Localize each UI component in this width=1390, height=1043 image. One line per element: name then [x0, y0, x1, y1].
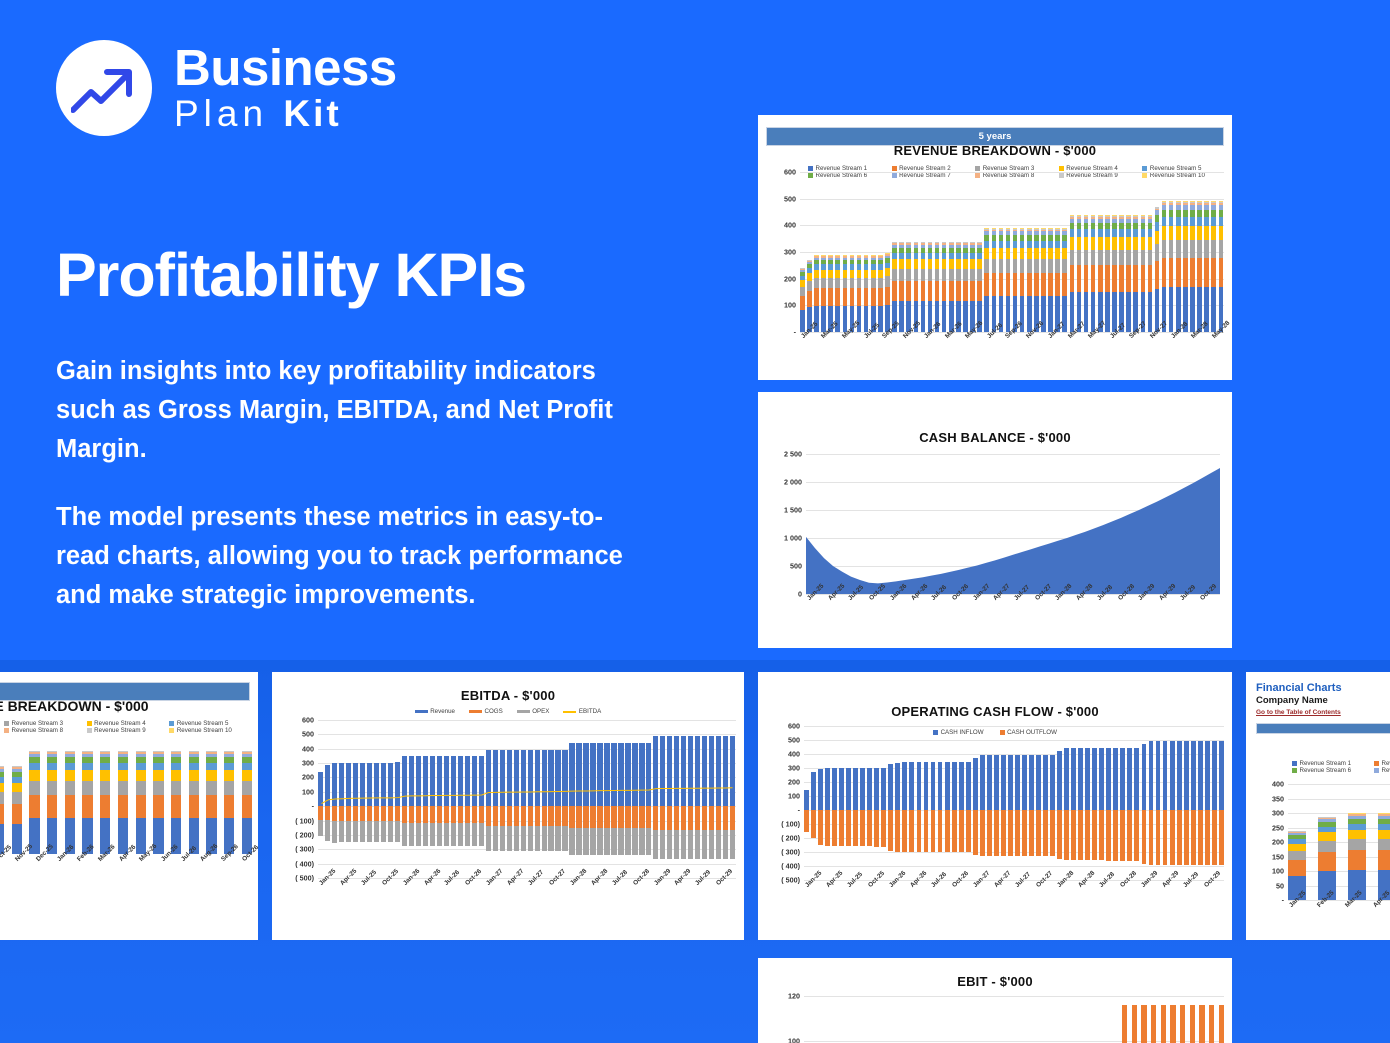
- bar-segment: [1177, 741, 1182, 810]
- x-tick-slot: Dec-25: [35, 858, 56, 888]
- y-axis-tick: 500: [790, 562, 802, 571]
- bar: [153, 751, 163, 854]
- x-tick-slot: Oct-28: [1117, 597, 1138, 627]
- y-axis-tick: 1 500: [784, 506, 802, 515]
- bar-segment: [1106, 748, 1111, 810]
- legend-label: Revenue Stream 9: [94, 727, 146, 734]
- bar-segment: [1141, 265, 1146, 291]
- bar: [825, 726, 830, 880]
- bar-segment: [984, 296, 989, 332]
- financial-charts-banner: [1256, 723, 1390, 734]
- x-tick-slot: Nov-26: [1025, 335, 1046, 365]
- bar-segment: [1126, 265, 1131, 291]
- x-tick-slot: Jul-29: [694, 882, 715, 912]
- bar-segment: [136, 795, 146, 818]
- bar: [242, 751, 252, 854]
- bar-segment: [1041, 273, 1046, 296]
- bar: [1077, 215, 1082, 332]
- bar-segment: [1162, 217, 1167, 226]
- hero-paragraph-2: The model presents these metrics in easy…: [56, 498, 656, 614]
- bar-segment: [1190, 217, 1195, 226]
- bar: [833, 996, 838, 1043]
- chart-title-revenue-breakdown-24m: REVENUE BREAKDOWN - $'000: [0, 698, 149, 714]
- bar-segment: [1133, 229, 1138, 237]
- bar-segment: [1183, 240, 1188, 258]
- gridline: [806, 594, 1220, 595]
- x-tick-slot: Jan-28: [1054, 597, 1075, 627]
- bar-segment: [973, 810, 978, 855]
- y-axis-tick: ( 200): [781, 834, 800, 843]
- bar-segment: [999, 241, 1004, 248]
- bar-segment: [949, 269, 954, 281]
- x-tick-slot: Oct-26: [241, 858, 258, 888]
- x-tick-slot: Jan-26: [923, 335, 943, 365]
- x-tick-slot: Jul-27: [1013, 597, 1034, 627]
- bar-segment: [1013, 248, 1018, 259]
- bar-segment: [1112, 265, 1117, 291]
- bar-segment: [65, 781, 75, 795]
- bar-segment: [949, 259, 954, 268]
- bar: [1126, 215, 1131, 332]
- bar-segment: [1084, 265, 1089, 291]
- bar-segment: [1183, 210, 1188, 217]
- bar-segment: [1205, 810, 1210, 865]
- x-tick-slot: Jan-28: [1170, 335, 1190, 365]
- y-axis-tick: ( 400): [781, 862, 800, 871]
- bar-segment: [1050, 810, 1055, 856]
- bar-segment: [1020, 241, 1025, 248]
- bar-segment: [1062, 259, 1067, 273]
- bar-segment: [821, 278, 826, 288]
- bar-segment: [1022, 810, 1027, 856]
- bar-segment: [224, 795, 234, 818]
- bar-segment: [1112, 292, 1117, 332]
- bar-segment: [1219, 741, 1224, 810]
- bar-segment: [977, 281, 982, 301]
- card-revenue-breakdown-5y[interactable]: 5 years REVENUE BREAKDOWN - $'000 Revenu…: [758, 115, 1232, 380]
- bar-segment: [1048, 273, 1053, 296]
- bar-segment: [1020, 248, 1025, 259]
- x-tick-slot: Oct-28: [632, 882, 653, 912]
- plot-ebitda: 600500400300200100-( 100)( 200)( 300)( 4…: [318, 720, 736, 878]
- bar-segment: [874, 810, 879, 847]
- bar: [852, 996, 857, 1043]
- y-axis-tick: 100: [788, 792, 800, 801]
- bar: [867, 726, 872, 880]
- bar-segment: [1070, 265, 1075, 291]
- bar: [920, 996, 925, 1043]
- x-tick-slot: Jan-26: [402, 882, 423, 912]
- x-tick-slot: Jul-27: [1014, 884, 1035, 914]
- bar-segment: [1180, 1005, 1185, 1043]
- bar-segment: [1015, 810, 1020, 856]
- bar-segment: [832, 810, 837, 846]
- bar-segment: [1148, 265, 1153, 291]
- brand-plan: Plan: [174, 93, 268, 134]
- bar-segment: [942, 281, 947, 301]
- x-tick-slot: Apr-28: [590, 882, 611, 912]
- bar-segment: [1027, 248, 1032, 259]
- card-ebit[interactable]: EBIT - $'000 12010080: [758, 958, 1232, 1043]
- bar-segment: [846, 768, 851, 810]
- bar-segment: [1155, 222, 1160, 231]
- y-axis-tick: ( 100): [295, 816, 314, 825]
- x-tick-slot: Apr-26: [909, 884, 930, 914]
- bar-segment: [1029, 810, 1034, 856]
- bar: [881, 726, 886, 880]
- bar-segment: [1027, 259, 1032, 273]
- bar-segment: [82, 781, 92, 795]
- x-tick-slot: Oct-26: [951, 884, 972, 914]
- bar: [1113, 726, 1118, 880]
- bar-segment: [835, 288, 840, 305]
- x-tick-slot: Jan-28: [1056, 884, 1077, 914]
- bar-segment: [1142, 810, 1147, 864]
- bar: [1085, 726, 1090, 880]
- bar-segment: [1098, 250, 1103, 266]
- bar-segment: [1057, 751, 1062, 811]
- bar: [1092, 726, 1097, 880]
- bar-segment: [1348, 830, 1366, 839]
- plot-financial-charts: 40035030025020015010050-: [1288, 784, 1390, 900]
- bar-segment: [82, 770, 92, 781]
- bar-segment: [1062, 248, 1067, 259]
- bar: [935, 242, 940, 332]
- line-series: [318, 720, 736, 878]
- bar-segment: [1013, 273, 1018, 296]
- bar-segment: [994, 755, 999, 810]
- bar-segment: [814, 288, 819, 305]
- brand-name-line1: Business: [174, 43, 397, 93]
- legend-item: Revenue Stream 2: [892, 165, 976, 172]
- bar-segment: [966, 762, 971, 810]
- legend-item: Revenue Stream 7: [1374, 767, 1390, 774]
- bar-segment: [895, 763, 900, 810]
- bar-segment: [984, 273, 989, 296]
- x-tick-slot: Apr-27: [992, 597, 1013, 627]
- legend-item: Revenue Stream 8: [4, 727, 87, 734]
- y-axis-tick: ( 400): [295, 859, 314, 868]
- card-financial-charts-panel[interactable]: Financial Charts Company Name Go to the …: [1246, 672, 1390, 940]
- bar-segment: [82, 795, 92, 818]
- bar-segment: [1043, 810, 1048, 856]
- bar-segment: [1211, 240, 1216, 258]
- bar-segment: [12, 804, 22, 824]
- bar-segment: [29, 781, 39, 795]
- bar-segment: [1041, 259, 1046, 273]
- bar-segment: [1318, 841, 1336, 852]
- bar: [1197, 201, 1202, 332]
- bar: [956, 242, 961, 332]
- upward-trend-arrow-icon: [71, 62, 137, 114]
- bar: [811, 726, 816, 880]
- bar: [949, 242, 954, 332]
- bar-segment: [1162, 258, 1167, 287]
- bar-segment: [906, 281, 911, 301]
- x-tick-slot: Oct-25: [868, 597, 889, 627]
- table-of-contents-link[interactable]: Go to the Table of Contents: [1256, 709, 1390, 716]
- bar-series: [804, 726, 1224, 880]
- y-axis-tick: 350: [1272, 794, 1284, 803]
- x-tick-slot: Apr-25: [1372, 904, 1390, 934]
- bar: [1070, 215, 1075, 332]
- bar-segment: [1141, 237, 1146, 249]
- bar: [1199, 996, 1204, 1043]
- bar: [963, 242, 968, 332]
- bar-segment: [1170, 1005, 1175, 1043]
- bar-segment: [878, 288, 883, 305]
- bar: [997, 996, 1002, 1043]
- card-cash-balance[interactable]: CASH BALANCE - $'000 2 5002 0001 5001 00…: [758, 392, 1232, 648]
- bar-segment: [1149, 810, 1154, 865]
- bar-segment: [821, 288, 826, 305]
- legend-swatch: [4, 728, 9, 733]
- card-ebitda[interactable]: EBITDA - $'000 RevenueCOGSOPEXEBITDA 600…: [272, 672, 744, 940]
- bar-segment: [899, 269, 904, 281]
- bar: [984, 228, 989, 332]
- bar-segment: [1071, 810, 1076, 860]
- bar-segment: [1151, 1005, 1156, 1043]
- bar: [1006, 228, 1011, 332]
- legend-swatch: [469, 710, 482, 713]
- x-tick-slot: Jul-26: [986, 335, 1004, 365]
- x-tick-slot: Sep-27: [1128, 335, 1149, 365]
- bar-segment: [1077, 237, 1082, 249]
- bar-segment: [818, 810, 823, 845]
- bar: [1022, 726, 1027, 880]
- bar: [977, 242, 982, 332]
- bar: [1016, 996, 1021, 1043]
- bar: [1132, 996, 1137, 1043]
- bar-segment: [1169, 226, 1174, 240]
- bar-segment: [1036, 755, 1041, 810]
- legend-swatch: [975, 166, 980, 171]
- bar-segment: [892, 259, 897, 268]
- y-axis-tick: 300: [788, 764, 800, 773]
- x-tick-slot: Apr-25: [339, 882, 360, 912]
- legend-swatch: [1374, 761, 1379, 766]
- bar: [862, 996, 867, 1043]
- y-axis-tick: ( 500): [781, 876, 800, 885]
- bar: [1156, 726, 1161, 880]
- bar-segment: [1149, 741, 1154, 810]
- bar: [874, 726, 879, 880]
- legend-swatch: [169, 721, 174, 726]
- bar-segment: [800, 310, 805, 332]
- bar-segment: [952, 810, 957, 852]
- bar-segment: [1048, 241, 1053, 248]
- bar-segment: [928, 269, 933, 281]
- legend-item: Revenue Stream 3: [4, 720, 87, 727]
- x-tick-slot: Mar-26: [97, 858, 118, 888]
- bar-segment: [1091, 237, 1096, 249]
- bar-segment: [935, 281, 940, 301]
- xaxis-ebitda: Jan-25Apr-25Jul-25Oct-25Jan-26Apr-26Jul-…: [318, 882, 736, 912]
- bar-segment: [1070, 237, 1075, 249]
- x-tick-slot: Jan-26: [888, 884, 909, 914]
- bar: [928, 242, 933, 332]
- bar: [902, 726, 907, 880]
- bar: [917, 726, 922, 880]
- legend-label: Revenue Stream 3: [12, 720, 64, 727]
- bar-segment: [171, 781, 181, 795]
- bar: [1055, 228, 1060, 332]
- x-tick-slot: Apr-29: [1161, 884, 1182, 914]
- bar-segment: [984, 241, 989, 248]
- legend-label: OPEX: [532, 708, 549, 715]
- legend-label: Revenue Stream 2: [1382, 760, 1390, 767]
- bar-segment: [1212, 741, 1217, 810]
- bar: [909, 726, 914, 880]
- bar-segment: [1288, 860, 1306, 876]
- legend-label: Revenue Stream 5: [177, 720, 229, 727]
- bar: [118, 751, 128, 854]
- bar-segment: [850, 270, 855, 278]
- logo-mark: [56, 40, 152, 136]
- bar-segment: [1197, 210, 1202, 217]
- x-tick-slot: Apr-26: [118, 858, 138, 888]
- legend-label: Revenue Stream 3: [983, 165, 1035, 172]
- bar-segment: [29, 770, 39, 781]
- bar-segment: [1098, 237, 1103, 249]
- bar-segment: [1348, 839, 1366, 851]
- bar-series: [0, 744, 252, 854]
- bar: [12, 766, 22, 854]
- bar: [189, 751, 199, 854]
- card-revenue-breakdown-24m[interactable]: 24 months REVENUE BREAKDOWN - $'000 Reve…: [0, 672, 258, 940]
- bar-segment: [242, 770, 252, 781]
- bar-segment: [1219, 1005, 1224, 1043]
- bar-segment: [804, 790, 809, 810]
- bar-segment: [1190, 210, 1195, 217]
- bar-segment: [224, 763, 234, 770]
- bar-segment: [970, 269, 975, 281]
- y-axis-tick: 500: [788, 736, 800, 745]
- bar-segment: [814, 270, 819, 278]
- bar: [1027, 228, 1032, 332]
- bar: [885, 253, 890, 332]
- bar: [853, 726, 858, 880]
- bar: [1151, 996, 1156, 1043]
- x-tick-slot: May-26: [964, 335, 986, 365]
- bar-segment: [1057, 810, 1062, 859]
- legend-swatch: [1292, 761, 1297, 766]
- bar: [1170, 726, 1175, 880]
- bar-segment: [909, 810, 914, 852]
- bar-segment: [1191, 810, 1196, 865]
- x-tick-slot: Jan-25: [806, 597, 827, 627]
- x-tick-slot: Jul-26: [930, 884, 951, 914]
- bar-segment: [1106, 810, 1111, 861]
- bar-segment: [1055, 259, 1060, 273]
- bar-segment: [1211, 210, 1216, 217]
- bar: [1041, 228, 1046, 332]
- bar-segment: [1162, 240, 1167, 258]
- plot-revenue-breakdown-24m: [0, 744, 252, 854]
- bar: [1198, 726, 1203, 880]
- bar-segment: [1091, 250, 1096, 266]
- bar-segment: [65, 763, 75, 770]
- bar-segment: [818, 769, 823, 810]
- xaxis-revenue-breakdown-24m: Oct-25Nov-25Dec-25Jan-26Feb-26Mar-26Apr-…: [0, 858, 252, 888]
- legend-item: EBITDA: [563, 708, 601, 715]
- bar-segment: [1212, 810, 1217, 865]
- bar-segment: [1126, 229, 1131, 237]
- y-axis-tick: 250: [1272, 823, 1284, 832]
- bar-segment: [811, 810, 816, 838]
- x-tick-slot: Jul-28: [1098, 884, 1119, 914]
- bar-segment: [906, 269, 911, 281]
- bar-segment: [994, 810, 999, 856]
- y-axis-tick: 200: [302, 773, 314, 782]
- bar: [1034, 228, 1039, 332]
- bar-segment: [1204, 210, 1209, 217]
- bar: [958, 996, 963, 1043]
- legend-item: Revenue Stream 10: [169, 727, 252, 734]
- bar-segment: [839, 810, 844, 846]
- y-axis-tick: -: [798, 806, 800, 815]
- bar: [1029, 726, 1034, 880]
- bar-segment: [1211, 217, 1216, 226]
- x-tick-slot: May-27: [1087, 335, 1109, 365]
- bar-segment: [1199, 1005, 1204, 1043]
- bar-segment: [1119, 229, 1124, 237]
- bar-segment: [909, 762, 914, 810]
- x-tick-slot: Nov-27: [1149, 335, 1170, 365]
- chart-title-ebit: EBIT - $'000: [758, 974, 1232, 989]
- bar-segment: [970, 281, 975, 301]
- bar-segment: [1034, 259, 1039, 273]
- bar-segment: [1132, 1005, 1137, 1043]
- x-tick-slot: Jan-29: [1137, 597, 1158, 627]
- bar-segment: [1163, 741, 1168, 810]
- y-axis-tick: 50: [1276, 881, 1284, 890]
- y-axis-tick: 2 500: [784, 450, 802, 459]
- card-operating-cash-flow[interactable]: OPERATING CASH FLOW - $'000 CASH INFLOWC…: [758, 672, 1232, 940]
- x-tick-slot: Apr-26: [423, 882, 444, 912]
- bar: [888, 726, 893, 880]
- bar-segment: [888, 764, 893, 810]
- financial-charts-title: Financial Charts: [1256, 682, 1390, 694]
- bar-segment: [0, 783, 4, 792]
- bar-segment: [1048, 296, 1053, 332]
- legend-swatch: [4, 721, 9, 726]
- bar-segment: [29, 795, 39, 818]
- bar-segment: [47, 763, 57, 770]
- bar-segment: [828, 278, 833, 288]
- bar-segment: [171, 770, 181, 781]
- bar-segment: [1013, 259, 1018, 273]
- bar-segment: [902, 810, 907, 852]
- bar-segment: [189, 795, 199, 818]
- legend-label: Revenue Stream 10: [177, 727, 232, 734]
- page-title: Profitability KPIs: [56, 243, 696, 307]
- bar: [821, 255, 826, 332]
- bar-segment: [807, 291, 812, 307]
- bar-segment: [1064, 748, 1069, 810]
- bar: [846, 726, 851, 880]
- x-tick-slot: Oct-25: [867, 884, 888, 914]
- bar: [871, 255, 876, 332]
- bar-segment: [1041, 241, 1046, 248]
- bar: [921, 242, 926, 332]
- bar-segment: [1120, 810, 1125, 861]
- bar: [860, 726, 865, 880]
- bar: [29, 751, 39, 854]
- plot-operating-cash-flow: 600500400300200100-( 100)( 200)( 300)( 4…: [804, 726, 1224, 880]
- bar-segment: [1055, 273, 1060, 296]
- bar-segment: [1113, 810, 1118, 861]
